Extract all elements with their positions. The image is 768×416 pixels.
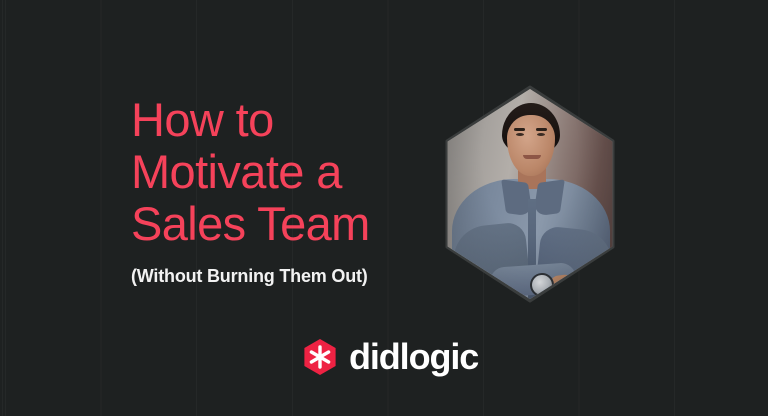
headline-line-3: Sales Team: [131, 198, 451, 250]
promo-slide: How to Motivate a Sales Team (Without Bu…: [0, 0, 768, 416]
headline-block: How to Motivate a Sales Team (Without Bu…: [131, 94, 451, 288]
headline-line-2: Motivate a: [131, 146, 451, 198]
portrait-hexagon: [443, 85, 617, 303]
brand-lockup[interactable]: didlogic: [303, 338, 478, 376]
didlogic-hexagon-asterisk-icon: [303, 338, 337, 376]
headline-line-1: How to: [131, 94, 451, 146]
brand-wordmark: didlogic: [349, 338, 478, 376]
subtitle: (Without Burning Them Out): [131, 250, 451, 288]
